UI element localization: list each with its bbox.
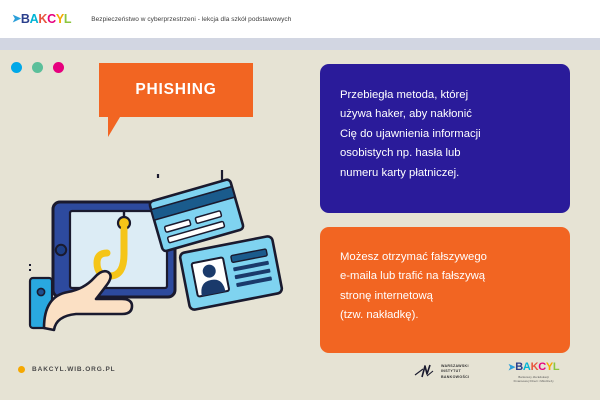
- logo-letter-b: B: [21, 13, 30, 26]
- footer-logo-letter-l: L: [553, 362, 559, 373]
- callout-definition-text: Przebiegła metoda, której używa haker, a…: [340, 86, 550, 183]
- footer-bakcyl-logo: ➤BAKCYL Bankowcy dla Edukacji Finansowej…: [508, 362, 559, 384]
- footer-logo-letter-y: Y: [546, 362, 553, 373]
- decorative-dots: [11, 62, 64, 73]
- chevron-right-icon: ➤: [12, 14, 21, 25]
- phishing-speech-bubble: PHISHING: [99, 63, 253, 117]
- slide-viewer: ➤BAKCYL Bezpieczeństwo w cyberprzestrzen…: [0, 0, 600, 400]
- logo-letter-a: A: [30, 13, 39, 26]
- callout-example: Możesz otrzymać fałszywego e-maila lub t…: [320, 227, 570, 353]
- chevron-right-icon: ➤: [508, 363, 515, 372]
- callout-definition: Przebiegła metoda, której używa haker, a…: [320, 64, 570, 213]
- footer-website-url[interactable]: BAKCYL.WIB.ORG.PL: [18, 366, 116, 373]
- footer-bakcyl-tagline: Bankowcy dla Edukacji Finansowej Dzieci …: [508, 375, 559, 384]
- footer-bakcyl-wordmark: ➤BAKCYL: [508, 362, 559, 373]
- bullet-dot-icon: [18, 366, 25, 373]
- dot-cyan: [11, 62, 22, 73]
- footer-logo-letter-a: A: [523, 362, 531, 373]
- callout-example-text: Możesz otrzymać fałszywego e-maila lub t…: [340, 248, 550, 326]
- logo-letter-y: Y: [56, 13, 64, 26]
- logo-letter-l: L: [64, 13, 71, 26]
- app-header: ➤BAKCYL Bezpieczeństwo w cyberprzestrzen…: [0, 0, 600, 38]
- dot-magenta: [53, 62, 64, 73]
- wib-logo: WARSZAWSKI INSTYTUT BANKOWOŚCI: [414, 364, 469, 380]
- footer-logo-letter-b: B: [515, 362, 523, 373]
- bakcyl-logo[interactable]: ➤BAKCYL: [12, 13, 71, 26]
- logo-letter-c: C: [47, 13, 56, 26]
- dot-green: [32, 62, 43, 73]
- slide-canvas: PHISHING: [0, 50, 600, 400]
- speech-bubble-tail: [108, 117, 120, 137]
- credit-card: [149, 179, 244, 252]
- id-card: [179, 236, 282, 311]
- phishing-title: PHISHING: [135, 81, 216, 99]
- logo-letter-k: K: [38, 13, 47, 26]
- footer-url-label: BAKCYL.WIB.ORG.PL: [32, 366, 116, 373]
- header-divider-strip: [0, 38, 600, 50]
- phishing-hook-tablet-illustration: [26, 168, 286, 358]
- footer-logo-letter-c: C: [538, 362, 546, 373]
- wib-mark-icon: [414, 364, 436, 380]
- footer-logo-letter-k: K: [531, 362, 539, 373]
- wib-logo-text: WARSZAWSKI INSTYTUT BANKOWOŚCI: [441, 364, 469, 380]
- lesson-title: Bezpieczeństwo w cyberprzestrzeni - lekc…: [91, 16, 291, 23]
